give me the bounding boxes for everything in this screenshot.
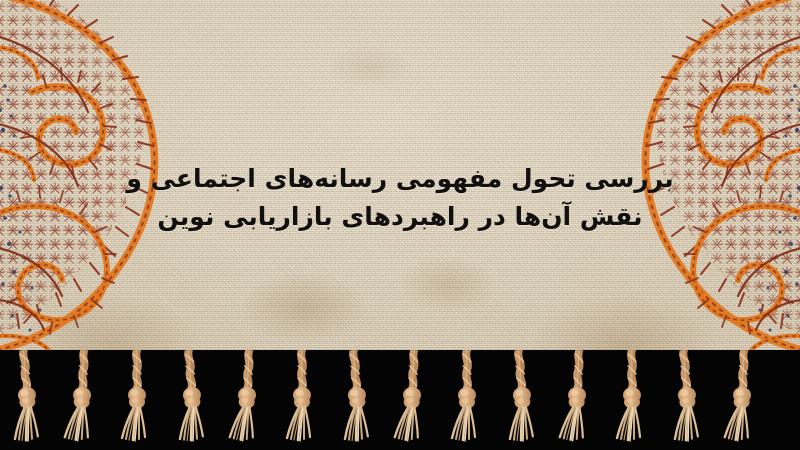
paisley-ornament-left bbox=[0, 0, 302, 360]
tassel bbox=[393, 349, 432, 443]
tassel bbox=[172, 349, 212, 443]
tassel bbox=[7, 349, 47, 443]
tassel bbox=[228, 349, 267, 443]
tassel-fringe bbox=[0, 350, 800, 450]
tassel bbox=[667, 349, 707, 443]
tassel bbox=[558, 349, 597, 443]
tassel bbox=[723, 349, 762, 443]
tassel bbox=[337, 349, 377, 443]
tassel bbox=[502, 349, 542, 443]
tassel bbox=[120, 350, 154, 442]
tassel bbox=[450, 350, 484, 442]
textile-title-card: بررسی تحول مفهومی رسانه‌های اجتماعی و نق… bbox=[0, 0, 800, 450]
tassel bbox=[63, 349, 102, 443]
tassel bbox=[615, 350, 649, 442]
linen-fabric-panel: بررسی تحول مفهومی رسانه‌های اجتماعی و نق… bbox=[0, 0, 800, 375]
paisley-ornament-right bbox=[498, 0, 800, 360]
tassel bbox=[285, 350, 319, 442]
